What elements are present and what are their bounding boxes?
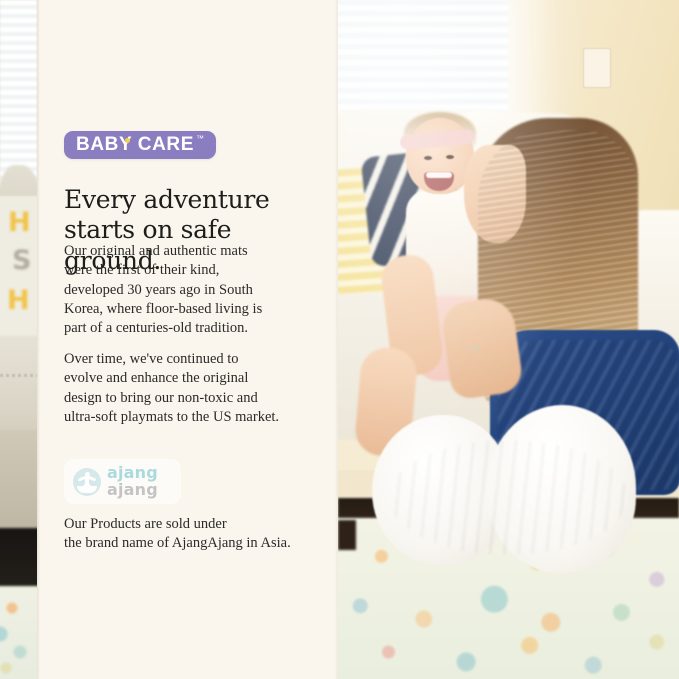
p2-line-4: ultra-soft playmats to the US market. — [64, 408, 314, 427]
baby-care-brand-badge: BABY CARE ™ — [64, 131, 216, 159]
body-paragraph-origin: Our original and authentic mats were the… — [64, 242, 314, 338]
text-panel: BABY CARE ™ Every adventure starts on sa… — [37, 0, 338, 679]
baby-care-brand-label: BABY CARE — [76, 135, 194, 154]
ajangajang-logo: ajang ajang — [64, 459, 181, 504]
p3-line-1: Our Products are sold under — [64, 515, 314, 534]
p1-line-5: part of a centuries-old tradition. — [64, 319, 314, 338]
cushion-letter-h-bottom: H — [7, 285, 30, 316]
body-paragraph-asia-brand: Our Products are sold under the brand na… — [64, 515, 314, 554]
brand-accent-dot-icon — [125, 138, 130, 143]
p2-line-2: evolve and enhance the original — [64, 369, 314, 388]
left-photo-strip: H S H — [0, 0, 37, 679]
cushion-letter-s: S — [12, 245, 31, 276]
p1-line-2: were the first of their kind, — [64, 261, 314, 280]
window-blinds-detail — [0, 0, 37, 190]
playmat-left-shadow — [338, 520, 356, 550]
playmat-edge-detail — [0, 586, 37, 679]
sofa-base-detail — [0, 430, 37, 535]
figure-base-shape — [77, 486, 97, 493]
baby-right-eye — [446, 155, 454, 159]
headline-line-1: Every adventure — [64, 185, 270, 214]
white-pants-folds — [388, 440, 628, 555]
p1-line-3: developed 30 years ago in South — [64, 281, 314, 300]
ajangajang-word-top: ajang — [107, 465, 158, 481]
cushion-letter-h-top: H — [8, 207, 31, 238]
ajangajang-wordmark: ajang ajang — [107, 465, 158, 498]
ajangajang-figure-icon — [73, 468, 101, 496]
p3-line-2: the brand name of AjangAjang in Asia. — [64, 534, 314, 553]
p2-line-3: design to bring our non-toxic and — [64, 389, 314, 408]
p1-line-4: Korea, where floor-based living is — [64, 300, 314, 319]
wall-switch-plate — [583, 48, 611, 88]
mother-ring — [471, 345, 479, 350]
p2-line-1: Over time, we've continued to — [64, 350, 314, 369]
product-lifestyle-banner: H S H BABY CARE ™ Every adventure starts… — [0, 0, 679, 679]
lifestyle-photo — [338, 0, 679, 679]
p1-line-1: Our original and authentic mats — [64, 242, 314, 261]
floor-shadow-detail — [0, 528, 37, 590]
panel-left-edge — [37, 0, 40, 679]
ajangajang-word-bottom: ajang — [107, 482, 158, 498]
body-paragraph-evolution: Over time, we've continued to evolve and… — [64, 350, 314, 427]
baby-teeth — [426, 172, 452, 178]
trademark-symbol: ™ — [196, 134, 204, 143]
sofa-stitching-detail — [0, 374, 37, 377]
baby-left-eye — [424, 156, 432, 160]
